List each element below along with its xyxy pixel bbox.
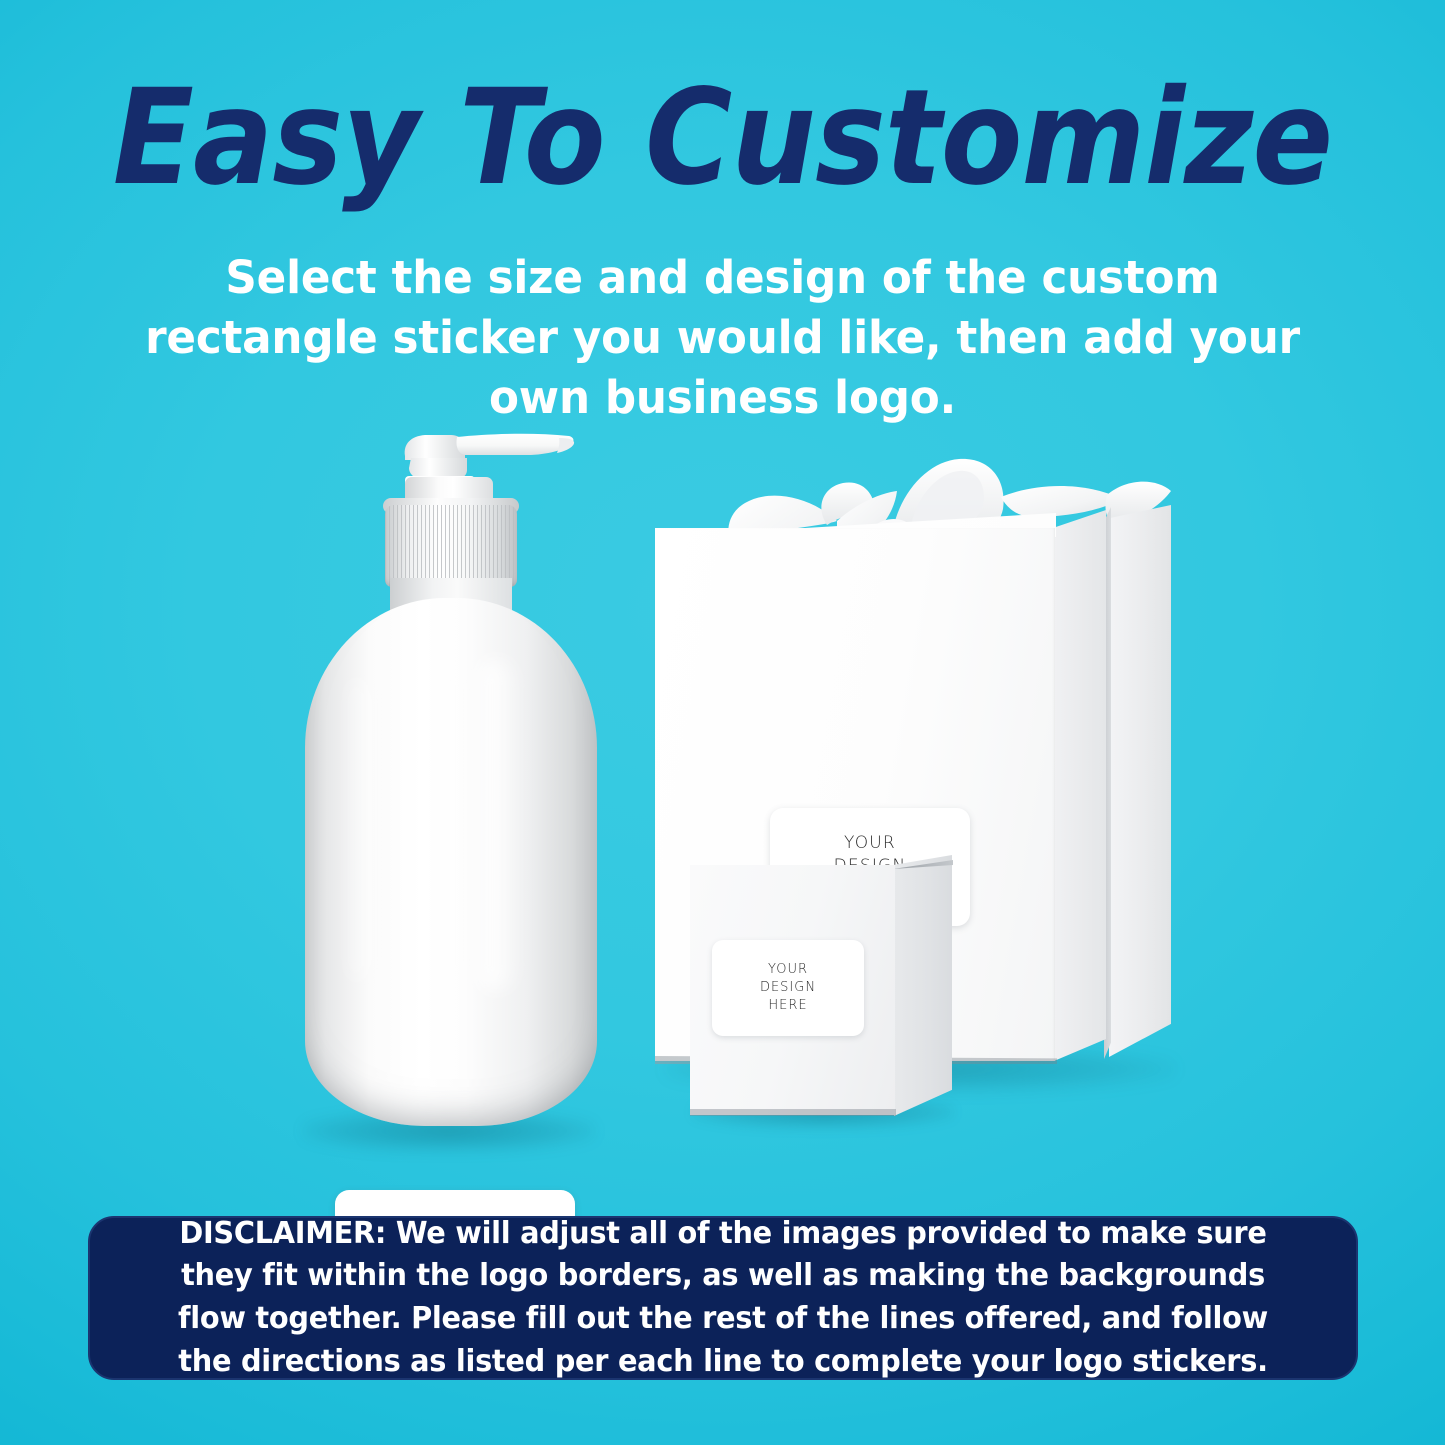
promo-graphic: Easy To Customize Select the size and de…: [0, 0, 1445, 1445]
bottle-secondary-highlight: [347, 680, 377, 980]
product-scene: YOUR DESIGN HERE YOUR DESIGN HERE: [0, 400, 1445, 1180]
disclaimer-label: DISCLAIMER:: [179, 1216, 386, 1251]
pump-bottle: YOUR DESIGN HERE: [295, 430, 605, 1165]
gift-box-outer-side-panel: [1109, 505, 1171, 1057]
sticker-line-1: YOUR: [844, 832, 896, 855]
smallbox-sticker: YOUR DESIGN HERE: [712, 940, 864, 1036]
small-box-front-face: YOUR DESIGN HERE: [690, 865, 895, 1115]
gift-box-inner-side-panel: [1054, 510, 1106, 1061]
small-box: YOUR DESIGN HERE: [690, 855, 955, 1130]
sticker-line-1: YOUR: [768, 961, 808, 979]
small-box-side-face: [894, 855, 952, 1116]
bottle-highlight: [467, 660, 521, 990]
small-box-base-edge: [690, 1109, 896, 1116]
disclaimer-banner: DISCLAIMER: We will adjust all of the im…: [88, 1216, 1358, 1380]
page-title: Easy To Customize: [72, 72, 1373, 204]
sticker-line-2: DESIGN: [760, 979, 816, 997]
bottle-ribbed-collar: [385, 505, 517, 587]
disclaimer-text: DISCLAIMER: We will adjust all of the im…: [152, 1213, 1294, 1383]
sticker-line-3: HERE: [768, 997, 807, 1015]
